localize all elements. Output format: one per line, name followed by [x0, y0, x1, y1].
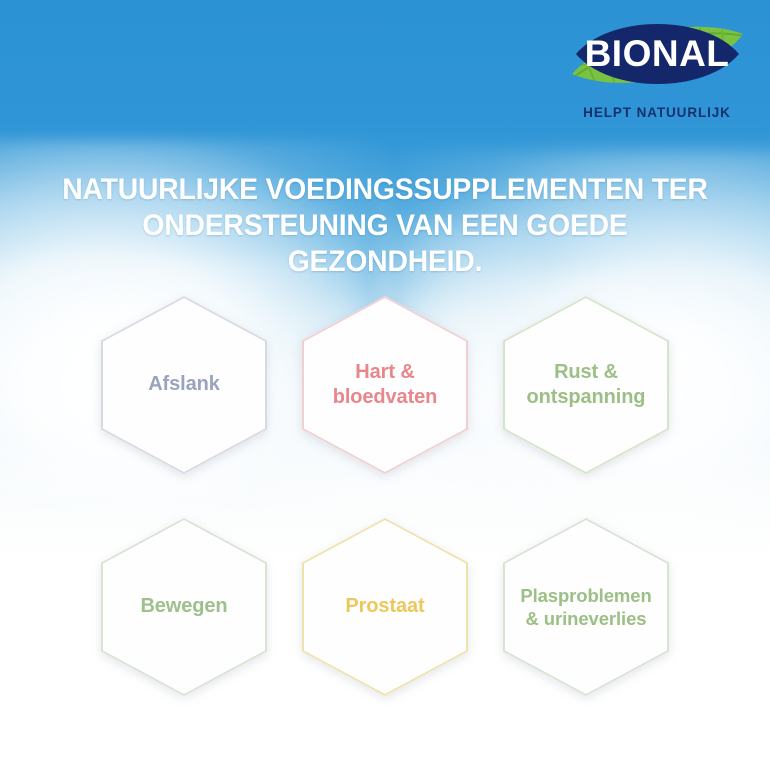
brand-logo[interactable]: BIONAL HELPT NATUURLIJK [562, 8, 752, 120]
hex-tile-prostaat-shell: Prostaat [302, 518, 468, 696]
hex-label-line: Hart & [333, 360, 438, 385]
hex-label-line: Bewegen [140, 594, 227, 619]
headline-line-1: NATUURLIJKE VOEDINGSSUPPLEMENTEN TER [60, 172, 711, 208]
hex-label-line: Rust & [527, 360, 646, 385]
hex-tile-prostaat[interactable]: Prostaat [302, 518, 468, 696]
hex-label-line: & urineverlies [520, 607, 651, 630]
brand-tagline: HELPT NATUURLIJK [562, 105, 752, 120]
category-row-top: Afslank Hart & bloedvaten Rust & ontspan… [0, 296, 770, 474]
hex-label-plasproblemen-urineverlies: Plasproblemen & urineverlies [510, 584, 661, 631]
hex-tile-bewegen-shell: Bewegen [101, 518, 267, 696]
promo-banner: BIONAL HELPT NATUURLIJK NATUURLIJKE VOED… [0, 0, 770, 770]
hex-label-line: Prostaat [345, 594, 424, 619]
hex-tile-afslank-shell: Afslank [101, 296, 267, 474]
svg-text:BIONAL: BIONAL [584, 33, 729, 74]
hex-tile-rust-ontspanning-shell: Rust & ontspanning [503, 296, 669, 474]
hex-label-line: Afslank [148, 372, 220, 397]
hex-label-afslank: Afslank [138, 372, 230, 397]
headline-line-2: ONDERSTEUNING VAN EEN GOEDE GEZONDHEID. [60, 208, 711, 280]
category-row-bottom: Bewegen Prostaat Plasproblemen & urineve… [0, 518, 770, 696]
hex-tile-bewegen[interactable]: Bewegen [101, 518, 267, 696]
hex-tile-afslank[interactable]: Afslank [101, 296, 267, 474]
hex-tile-plasproblemen-urineverlies-shell: Plasproblemen & urineverlies [503, 518, 669, 696]
hex-label-line: ontspanning [527, 385, 646, 410]
hex-tile-rust-ontspanning[interactable]: Rust & ontspanning [503, 296, 669, 474]
category-hex-grid: Afslank Hart & bloedvaten Rust & ontspan… [0, 296, 770, 696]
page-title: NATUURLIJKE VOEDINGSSUPPLEMENTEN TER OND… [15, 172, 754, 280]
hex-tile-hart-bloedvaten[interactable]: Hart & bloedvaten [302, 296, 468, 474]
hex-label-prostaat: Prostaat [335, 594, 434, 619]
hex-label-line: bloedvaten [333, 385, 438, 410]
hex-tile-hart-bloedvaten-shell: Hart & bloedvaten [302, 296, 468, 474]
leaf-lens-logo-icon: BIONAL [570, 8, 745, 100]
hex-label-hart-bloedvaten: Hart & bloedvaten [323, 360, 448, 410]
hex-label-bewegen: Bewegen [130, 594, 237, 619]
hex-label-line: Plasproblemen [520, 584, 651, 607]
hex-tile-plasproblemen-urineverlies[interactable]: Plasproblemen & urineverlies [503, 518, 669, 696]
hex-label-rust-ontspanning: Rust & ontspanning [517, 360, 656, 410]
